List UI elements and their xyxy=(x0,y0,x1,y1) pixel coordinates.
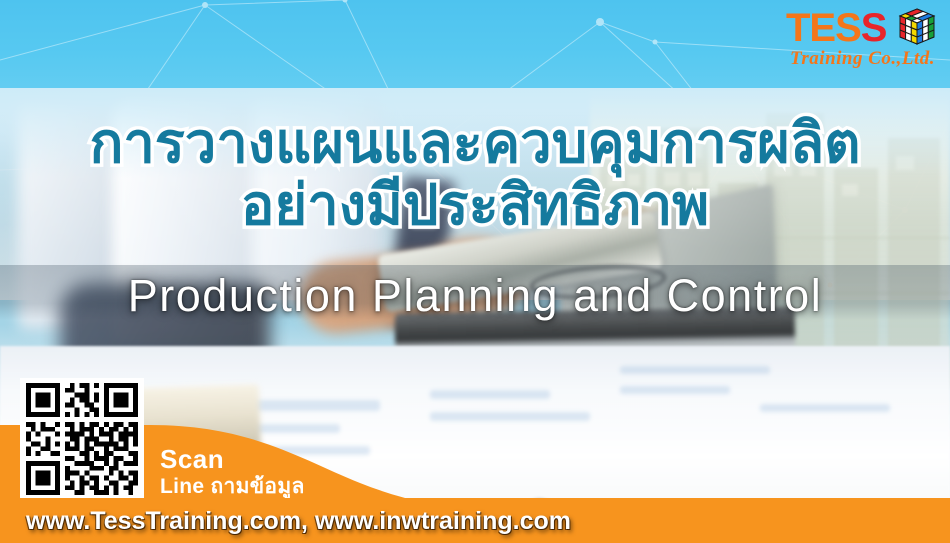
logo-wordmark: TESS xyxy=(786,8,886,48)
scan-label: Scan xyxy=(160,446,305,472)
qr-code-icon[interactable] xyxy=(20,378,144,500)
scan-line-badge: Scan Line ถามข้อมูล xyxy=(160,446,305,497)
footer-urls[interactable]: www.TessTraining.com, www.inwtraining.co… xyxy=(26,507,571,535)
rubiks-cube-icon xyxy=(894,6,940,52)
logo-tagline: Training Co.,Ltd. xyxy=(790,48,935,70)
logo-word-accent: S xyxy=(861,6,887,50)
logo-word-main: TES xyxy=(786,6,861,50)
tess-training-logo[interactable]: TESS xyxy=(782,4,942,80)
footer-bar: www.TessTraining.com, www.inwtraining.co… xyxy=(0,498,950,543)
scan-sublabel: Line ถามข้อมูล xyxy=(160,476,305,497)
course-title-block: การวางแผนและควบคุมการผลิต อย่างมีประสิทธ… xyxy=(0,112,950,236)
course-promo-banner: TESS xyxy=(0,0,950,543)
title-thai-line1: การวางแผนและควบคุมการผลิต xyxy=(0,112,950,174)
title-english-subtitle: Production Planning and Control xyxy=(0,270,950,322)
title-thai-line2: อย่างมีประสิทธิภาพ xyxy=(0,174,950,236)
